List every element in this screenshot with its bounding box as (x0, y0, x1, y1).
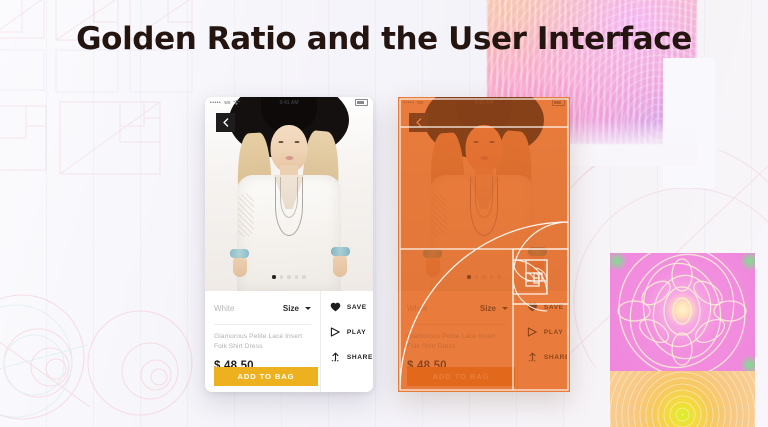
pagination-dot-5[interactable] (302, 275, 306, 279)
color-value[interactable]: White (214, 304, 234, 313)
status-bar: ••••• ws 9:41 AM (205, 97, 373, 108)
play-icon (330, 327, 341, 337)
model-bracelet-right (331, 247, 350, 256)
product-details: White Size Glamorous Petite Lace Insert … (205, 291, 320, 392)
model-eye-left (279, 141, 284, 143)
save-label: SAVE (347, 304, 367, 311)
golden-ratio-grid (398, 97, 570, 392)
size-label: Size (283, 304, 299, 313)
heart-icon (330, 302, 341, 312)
pagination-dot-2[interactable] (280, 275, 284, 279)
phone-mockup: ••••• ws 9:41 AM (205, 97, 373, 392)
watermark-golden-circles (0, 275, 200, 427)
play-action[interactable]: PLAY (321, 327, 366, 337)
add-to-bag-button[interactable]: ADD TO BAG (214, 367, 318, 386)
chevron-left-icon (222, 118, 230, 127)
status-time: 9:41 AM (205, 100, 373, 106)
size-selector[interactable]: Size (283, 304, 311, 313)
dress-lace-insert (238, 193, 254, 237)
gallery-pagination[interactable] (205, 275, 373, 279)
divider (214, 324, 311, 325)
pagination-dot-3[interactable] (287, 275, 291, 279)
share-icon (330, 352, 341, 362)
pagination-dot-1[interactable] (272, 275, 276, 279)
back-button[interactable] (216, 113, 235, 132)
product-info-panel: White Size Glamorous Petite Lace Insert … (205, 291, 373, 392)
model-necklace-short (280, 177, 298, 218)
model-hand-left (233, 255, 247, 277)
decor-flower-plate (610, 253, 755, 371)
model-eye-right (295, 141, 300, 143)
share-label: SHARE (347, 354, 373, 361)
golden-ratio-overlay-panel: ••••• ws 9:41 AM (398, 97, 570, 392)
watermark-golden-ratio-sheet-bottom (0, 96, 205, 226)
poster-stage: Golden Ratio and the User Interface ••••… (0, 0, 768, 427)
product-actions: SAVE PLAY SHARE (320, 291, 373, 392)
play-label: PLAY (347, 329, 366, 336)
model-bracelet-left (230, 249, 249, 258)
share-action[interactable]: SHARE (321, 352, 373, 362)
battery-icon (355, 99, 368, 106)
product-title: Glamorous Petite Lace Insert Folk Shirt … (214, 332, 311, 352)
chevron-down-icon (305, 307, 311, 310)
page-title: Golden Ratio and the User Interface (0, 21, 768, 57)
status-right-group (355, 99, 368, 106)
decor-sunflower-plate (610, 371, 755, 427)
variant-row: White Size (214, 301, 311, 316)
model-hand-right (333, 253, 347, 277)
model-lips (285, 156, 293, 160)
pagination-dot-4[interactable] (295, 275, 299, 279)
save-action[interactable]: SAVE (321, 302, 367, 312)
